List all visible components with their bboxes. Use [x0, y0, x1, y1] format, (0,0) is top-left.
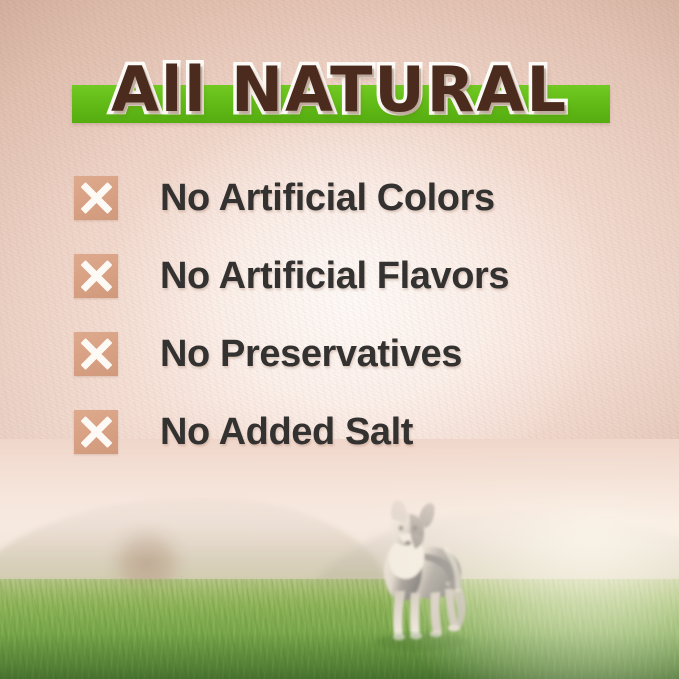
grass-shadow [0, 633, 679, 679]
list-item: No Added Salt [74, 410, 634, 454]
x-mark-icon [74, 332, 118, 376]
feature-list: No Artificial Colors No Artificial Flavo… [74, 176, 634, 488]
feature-label: No Added Salt [160, 410, 413, 454]
title-banner: All NATURAL [0, 48, 679, 140]
list-item: No Artificial Colors [74, 176, 634, 220]
x-mark-icon [74, 410, 118, 454]
x-mark-icon [74, 176, 118, 220]
feature-label: No Preservatives [160, 332, 462, 376]
list-item: No Preservatives [74, 332, 634, 376]
product-feature-poster: All NATURAL No Artificial Colors No Arti… [0, 0, 679, 679]
list-item: No Artificial Flavors [74, 254, 634, 298]
x-mark-icon [74, 254, 118, 298]
feature-label: No Artificial Flavors [160, 254, 509, 298]
feature-label: No Artificial Colors [160, 176, 495, 220]
page-title: All NATURAL [0, 48, 679, 132]
border-collie-dog [355, 487, 475, 657]
